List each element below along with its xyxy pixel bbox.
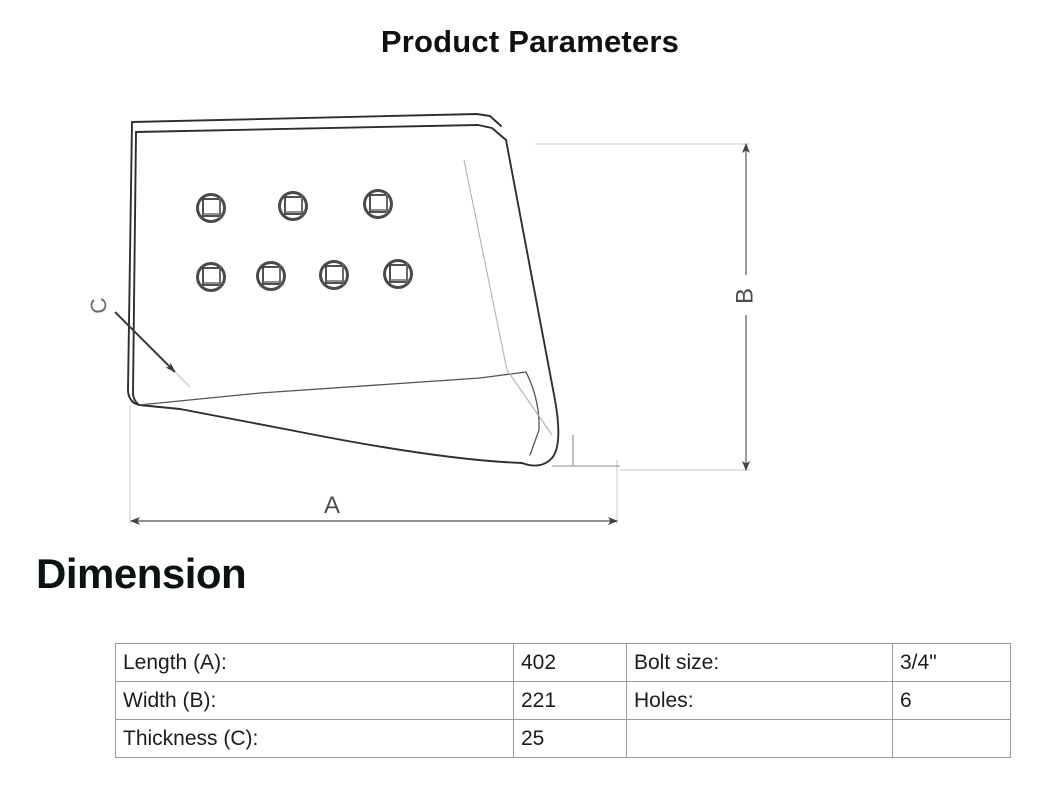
drawing-canvas: C A B xyxy=(60,100,860,550)
table-row: Thickness (C): 25 xyxy=(116,720,1011,758)
cell-value-2 xyxy=(893,720,1011,758)
bolt-hole xyxy=(198,195,225,222)
bolt-hole xyxy=(365,191,392,218)
internal-construction-lines xyxy=(464,160,620,466)
product-technical-drawing: C A B xyxy=(60,100,860,550)
cell-label: Width (B): xyxy=(116,682,514,720)
cell-label-2: Bolt size: xyxy=(627,644,893,682)
thickness-leader: C xyxy=(85,296,190,387)
page-title: Product Parameters xyxy=(0,24,1060,60)
bolt-hole xyxy=(258,263,285,290)
bolt-hole xyxy=(321,262,348,289)
width-dimension-label: B xyxy=(731,288,758,304)
cell-value: 25 xyxy=(514,720,627,758)
table-body: Length (A): 402 Bolt size: 3/4" Width (B… xyxy=(116,644,1011,758)
bolt-hole xyxy=(198,264,225,291)
plate-outline xyxy=(128,114,558,466)
bolt-hole-row-top xyxy=(198,191,392,222)
dimension-line-b: B xyxy=(731,144,758,470)
cell-label-2 xyxy=(627,720,893,758)
cell-label: Thickness (C): xyxy=(116,720,514,758)
length-dimension-label: A xyxy=(324,492,340,519)
cell-value-2: 3/4" xyxy=(893,644,1011,682)
section-heading-dimension: Dimension xyxy=(36,552,246,596)
dimension-spec-table: Length (A): 402 Bolt size: 3/4" Width (B… xyxy=(115,643,1011,758)
dimension-table-container: Length (A): 402 Bolt size: 3/4" Width (B… xyxy=(115,643,978,758)
cell-value: 402 xyxy=(514,644,627,682)
bolt-hole xyxy=(385,261,412,288)
table-row: Length (A): 402 Bolt size: 3/4" xyxy=(116,644,1011,682)
cell-value: 221 xyxy=(514,682,627,720)
cell-label-2: Holes: xyxy=(627,682,893,720)
thickness-label: C xyxy=(85,296,112,315)
cell-value-2: 6 xyxy=(893,682,1011,720)
table-row: Width (B): 221 Holes: 6 xyxy=(116,682,1011,720)
cell-label: Length (A): xyxy=(116,644,514,682)
bolt-hole xyxy=(280,193,307,220)
bolt-hole-row-bottom xyxy=(198,261,412,291)
dimension-line-a: A xyxy=(131,492,617,521)
